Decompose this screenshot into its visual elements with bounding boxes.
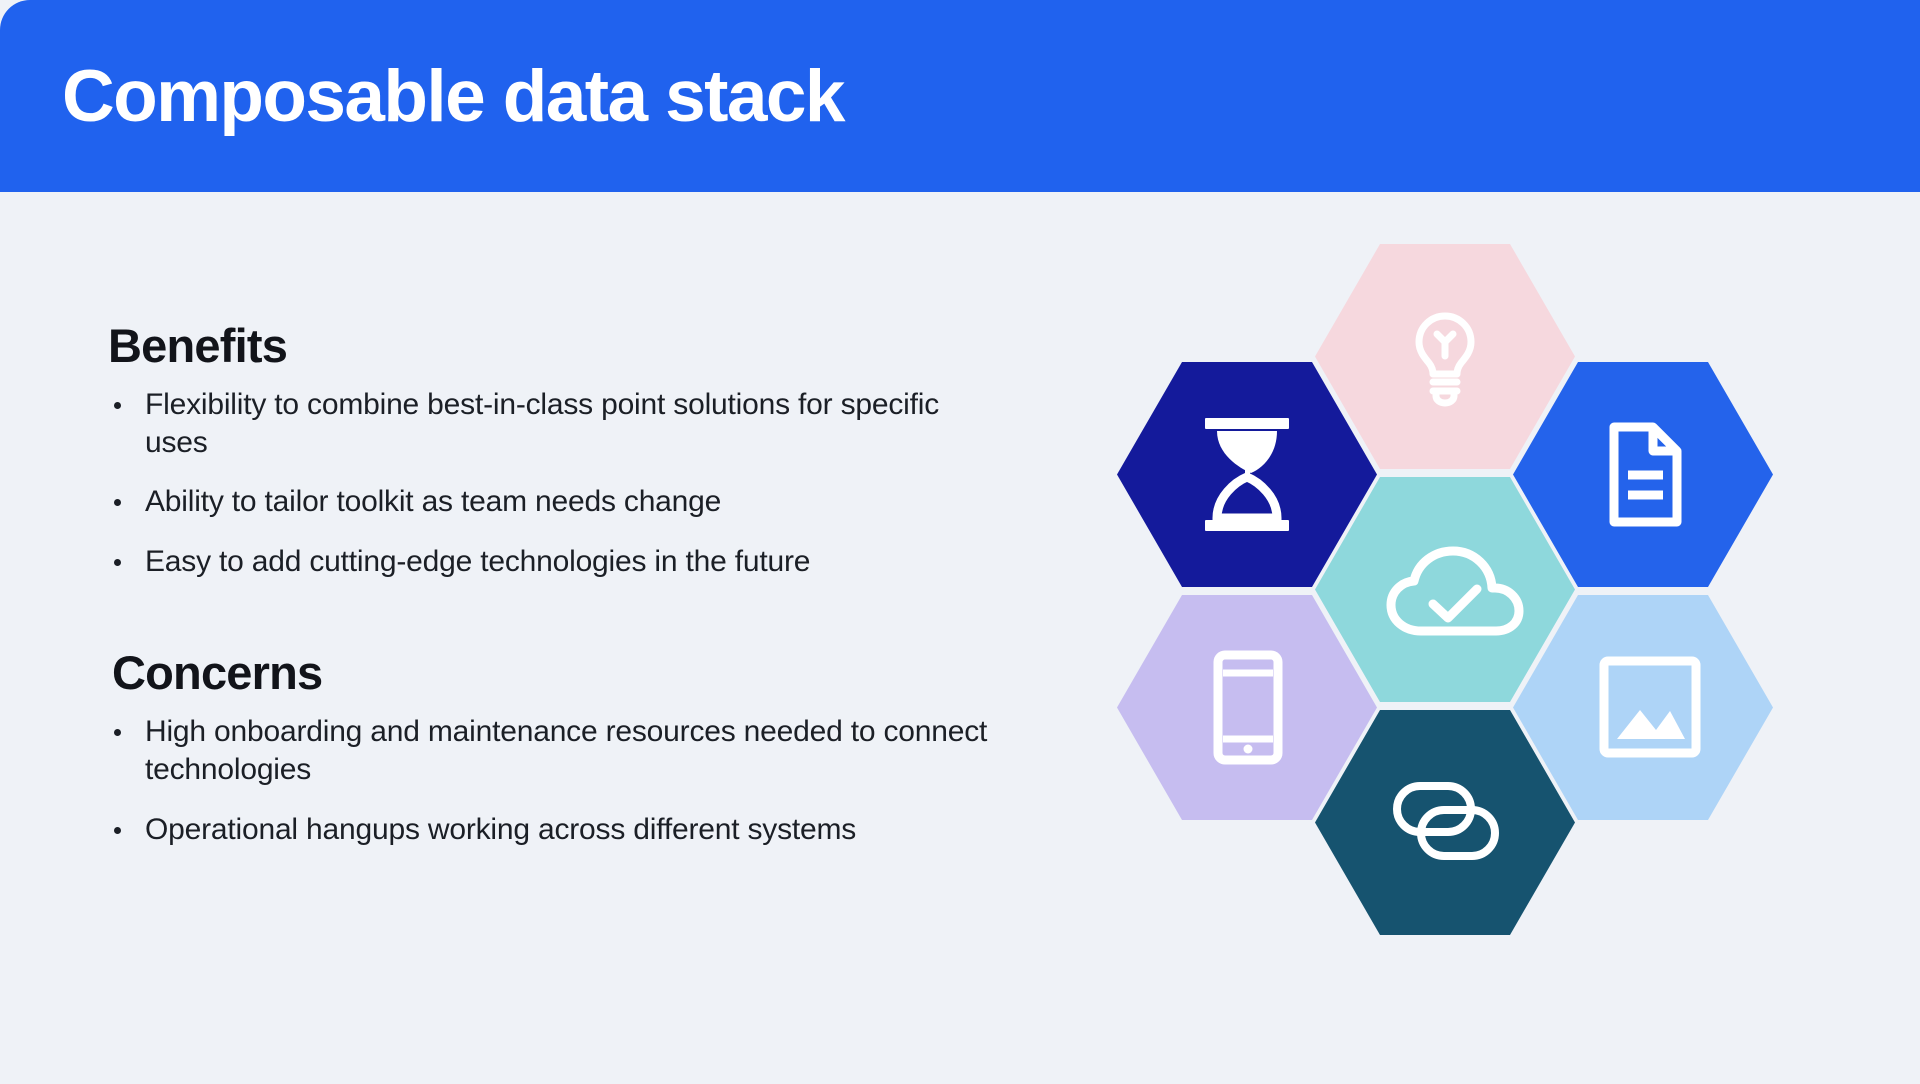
- list-item-text: High onboarding and maintenance resource…: [145, 715, 987, 786]
- list-item-text: Operational hangups working across diffe…: [145, 813, 856, 846]
- list-item-text: Easy to add cutting-edge technologies in…: [145, 545, 810, 578]
- text-column: Benefits Flexibility to combine best-in-…: [108, 320, 1008, 849]
- list-item-text: Flexibility to combine best-in-class poi…: [145, 388, 939, 459]
- bullet-dot-icon: [114, 402, 121, 409]
- hexagon-cluster: [1085, 222, 1805, 942]
- concerns-heading: Concerns: [112, 647, 1008, 699]
- list-item: Easy to add cutting-edge technologies in…: [108, 543, 1005, 581]
- bullet-dot-icon: [114, 499, 121, 506]
- benefits-heading: Benefits: [108, 320, 1008, 372]
- benefits-list: Flexibility to combine best-in-class poi…: [108, 386, 1008, 582]
- list-item: Flexibility to combine best-in-class poi…: [108, 386, 1005, 463]
- list-item: Operational hangups working across diffe…: [108, 811, 1005, 849]
- list-item: Ability to tailor toolkit as team needs …: [108, 483, 1005, 521]
- bullet-dot-icon: [114, 729, 121, 736]
- list-item-text: Ability to tailor toolkit as team needs …: [145, 485, 721, 518]
- content-stage: Benefits Flexibility to combine best-in-…: [0, 192, 1920, 1084]
- list-item: High onboarding and maintenance resource…: [108, 713, 1005, 790]
- bullet-dot-icon: [114, 827, 121, 834]
- bullet-dot-icon: [114, 559, 121, 566]
- page-header: Composable data stack: [0, 0, 1920, 192]
- page-title: Composable data stack: [62, 60, 844, 133]
- concerns-list: High onboarding and maintenance resource…: [108, 713, 1008, 849]
